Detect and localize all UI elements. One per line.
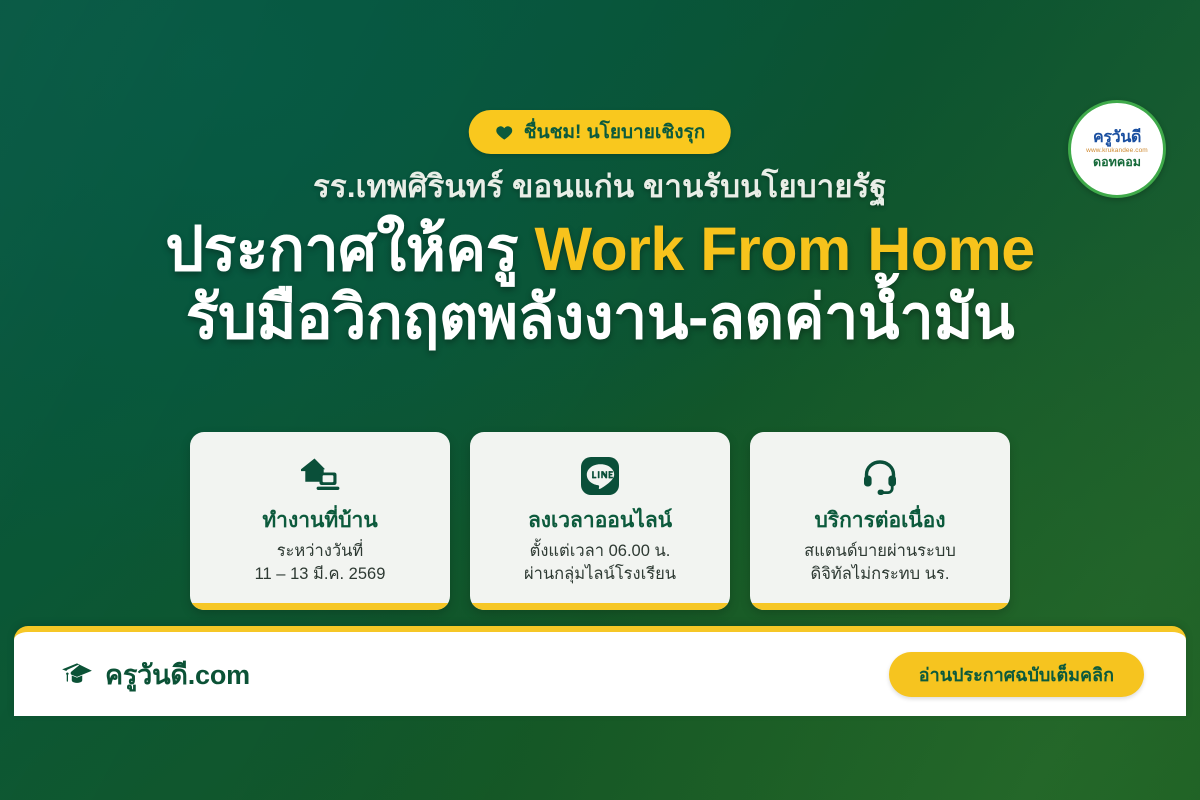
feature-card-title: บริการต่อเนื่อง: [814, 508, 945, 534]
brand-badge-top-text: ครูวันดี: [1093, 130, 1141, 146]
brand-badge[interactable]: ครูวันดี www.krukandee.com ดอทคอม: [1068, 100, 1166, 198]
feature-card-line: ตั้งแต่เวลา 06.00 น.: [524, 540, 676, 562]
brand-badge-bottom-text: ดอทคอม: [1093, 156, 1141, 169]
feature-card-line: 11 – 13 มี.ค. 2569: [255, 563, 386, 585]
feature-card-lines: สแตนด์บายผ่านระบบ ดิจิทัลไม่กระทบ นร.: [804, 540, 956, 585]
footer-brand[interactable]: ครูวันดี.com: [60, 653, 250, 696]
headline-line-1: ประกาศให้ครู Work From Home: [0, 217, 1200, 283]
headline-block: รร.เทพศิรินทร์ ขอนแก่น ขานรับนโยบายรัฐ ป…: [0, 168, 1200, 351]
feature-card-online-checkin[interactable]: ลงเวลาออนไลน์ ตั้งแต่เวลา 06.00 น. ผ่านก…: [470, 432, 730, 610]
brand-badge-url: www.krukandee.com: [1086, 148, 1148, 155]
poster-canvas: ครูวันดี www.krukandee.com ดอทคอม ชื่นชม…: [0, 0, 1200, 800]
read-full-announcement-button[interactable]: อ่านประกาศฉบับเต็มคลิก: [889, 652, 1144, 697]
kicker-label: ชื่นชม! นโยบายเชิงรุก: [524, 117, 705, 147]
feature-card-line: ระหว่างวันที่: [255, 540, 386, 562]
feature-card-continuous-service[interactable]: บริการต่อเนื่อง สแตนด์บายผ่านระบบ ดิจิทั…: [750, 432, 1010, 610]
graduation-cap-icon: [60, 657, 94, 691]
headline-subtitle: รร.เทพศิรินทร์ ขอนแก่น ขานรับนโยบายรัฐ: [0, 168, 1200, 207]
footer-brand-text: ครูวันดี.com: [105, 653, 250, 696]
headline-line-1-prefix: ประกาศให้ครู: [165, 215, 534, 283]
headline-line-1-highlight: Work From Home: [534, 215, 1034, 283]
footer-bar: ครูวันดี.com อ่านประกาศฉบับเต็มคลิก: [14, 626, 1186, 716]
headset-support-icon: [856, 452, 904, 500]
feature-card-title: ทำงานที่บ้าน: [262, 508, 377, 534]
feature-card-line: สแตนด์บายผ่านระบบ: [804, 540, 956, 562]
feature-card-title: ลงเวลาออนไลน์: [528, 508, 672, 534]
headline-line-2: รับมือวิกฤตพลังงาน-ลดค่าน้ำมัน: [0, 285, 1200, 351]
feature-card-lines: ระหว่างวันที่ 11 – 13 มี.ค. 2569: [255, 540, 386, 585]
feature-card-lines: ตั้งแต่เวลา 06.00 น. ผ่านกลุ่มไลน์โรงเรี…: [524, 540, 676, 585]
feature-card-work-from-home[interactable]: ทำงานที่บ้าน ระหว่างวันที่ 11 – 13 มี.ค.…: [190, 432, 450, 610]
feature-card-line: ดิจิทัลไม่กระทบ นร.: [804, 563, 956, 585]
home-laptop-icon: [296, 452, 344, 500]
line-app-icon: [576, 452, 624, 500]
feature-card-list: ทำงานที่บ้าน ระหว่างวันที่ 11 – 13 มี.ค.…: [190, 432, 1010, 610]
kicker-pill: ชื่นชม! นโยบายเชิงรุก: [469, 110, 731, 154]
feature-card-line: ผ่านกลุ่มไลน์โรงเรียน: [524, 563, 676, 585]
heart-icon: [495, 123, 514, 142]
